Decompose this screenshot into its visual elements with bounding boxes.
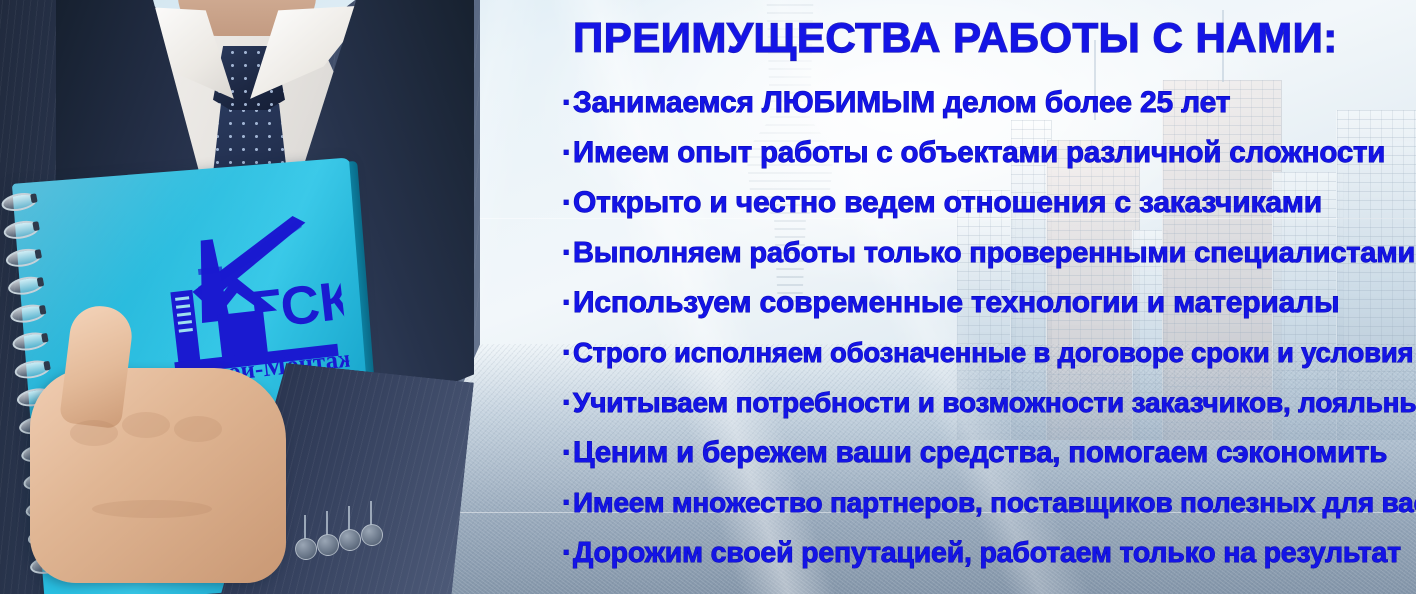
bullet-dot-icon: · bbox=[562, 128, 573, 178]
benefit-text: Имеем множество партнеров, поставщиков п… bbox=[573, 487, 1416, 518]
headline: ПРЕИМУЩЕСТВА РАБОТЫ С НАМИ: bbox=[573, 14, 1338, 62]
benefit-item: ·Дорожим своей репутацией, работаем толь… bbox=[562, 528, 1416, 578]
benefit-text: Строго исполняем обозначенные в договоре… bbox=[573, 337, 1413, 368]
benefits-list: ·Занимаемся ЛЮБИМЫМ делом более 25 лет ·… bbox=[562, 78, 1416, 578]
benefit-text: Открыто и честно ведем отношения с заказ… bbox=[573, 186, 1322, 219]
bullet-dot-icon: · bbox=[562, 378, 573, 428]
bullet-dot-icon: · bbox=[562, 228, 573, 278]
benefit-text: Учитываем потребности и возможности зака… bbox=[573, 387, 1416, 418]
benefit-text: Занимаемся ЛЮБИМЫМ делом более 25 лет bbox=[573, 86, 1230, 119]
businessman-photo: ГСК Строй-Монтаж bbox=[0, 0, 560, 594]
benefit-item: ·Открыто и честно ведем отношения с зака… bbox=[562, 178, 1416, 228]
benefit-text: Ценим и бережем ваши средства, помогаем … bbox=[573, 436, 1387, 469]
bullet-dot-icon: · bbox=[562, 278, 573, 328]
benefit-item: ·Выполняем работы только проверенными сп… bbox=[562, 228, 1416, 278]
benefit-text: Имеем опыт работы с объектами различной … bbox=[573, 136, 1385, 169]
benefit-item: ·Ценим и бережем ваши средства, помогаем… bbox=[562, 428, 1416, 478]
benefit-item: ·Учитываем потребности и возможности зак… bbox=[562, 378, 1416, 428]
benefit-item: ·Имеем множество партнеров, поставщиков … bbox=[562, 478, 1416, 528]
benefit-text: Дорожим своей репутацией, работаем тольк… bbox=[573, 537, 1401, 569]
bullet-dot-icon: · bbox=[562, 478, 573, 528]
bullet-dot-icon: · bbox=[562, 78, 573, 128]
hand-thumbs-up bbox=[30, 368, 286, 583]
promo-banner: ГСК Строй-Монтаж bbox=[0, 0, 1416, 594]
bullet-dot-icon: · bbox=[562, 178, 573, 228]
benefit-text: Используем современные технологии и мате… bbox=[573, 286, 1339, 319]
benefit-item: ·Строго исполняем обозначенные в договор… bbox=[562, 328, 1416, 378]
bullet-dot-icon: · bbox=[562, 528, 573, 578]
bullet-dot-icon: · bbox=[562, 428, 573, 478]
benefit-item: ·Используем современные технологии и мат… bbox=[562, 278, 1416, 328]
benefit-item: ·Имеем опыт работы с объектами различной… bbox=[562, 128, 1416, 178]
bullet-dot-icon: · bbox=[562, 328, 573, 378]
logo-brand-text: ГСК bbox=[248, 270, 351, 341]
benefit-item: ·Занимаемся ЛЮБИМЫМ делом более 25 лет bbox=[562, 78, 1416, 128]
benefit-text: Выполняем работы только проверенными спе… bbox=[573, 237, 1415, 269]
